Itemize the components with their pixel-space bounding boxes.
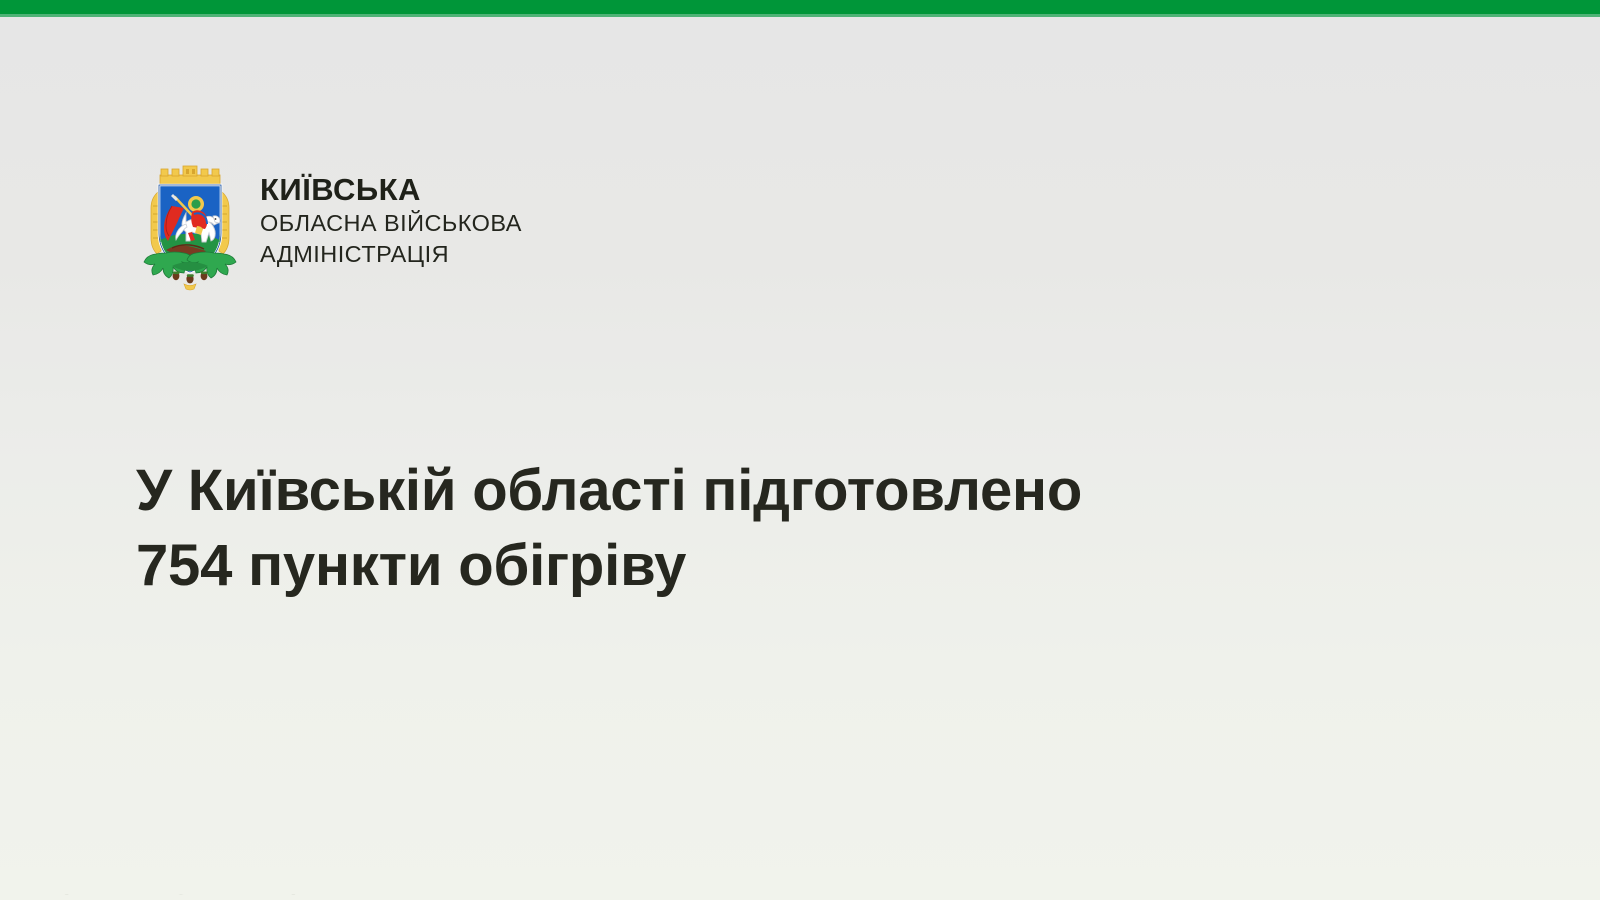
kyiv-oblast-coat-of-arms-icon <box>142 158 238 294</box>
logo-text-block: КИЇВСЬКА ОБЛАСНА ВІЙСЬКОВА АДМІНІСТРАЦІЯ <box>260 158 522 271</box>
top-accent-bar <box>0 0 1600 14</box>
page-title: У Київській області підготовлено 754 пун… <box>136 454 1416 604</box>
page-title-line-2: 754 пункти обігріву <box>136 529 1416 604</box>
organization-subtitle-line-2: АДМІНІСТРАЦІЯ <box>260 239 522 270</box>
clipped-footer-strip: ПУНКТИ ОБІГРІВУ <box>40 894 470 900</box>
news-card-canvas: КИЇВСЬКА ОБЛАСНА ВІЙСЬКОВА АДМІНІСТРАЦІЯ… <box>0 0 1600 900</box>
logo-lockup[interactable]: КИЇВСЬКА ОБЛАСНА ВІЙСЬКОВА АДМІНІСТРАЦІЯ <box>142 158 522 294</box>
page-title-line-1: У Київській області підготовлено <box>136 454 1416 529</box>
clipped-footer-text: ПУНКТИ ОБІГРІВУ <box>40 894 470 900</box>
organization-subtitle-line-1: ОБЛАСНА ВІЙСЬКОВА <box>260 208 522 239</box>
top-accent-bar-light <box>0 14 1600 17</box>
organization-name: КИЇВСЬКА <box>260 172 522 208</box>
